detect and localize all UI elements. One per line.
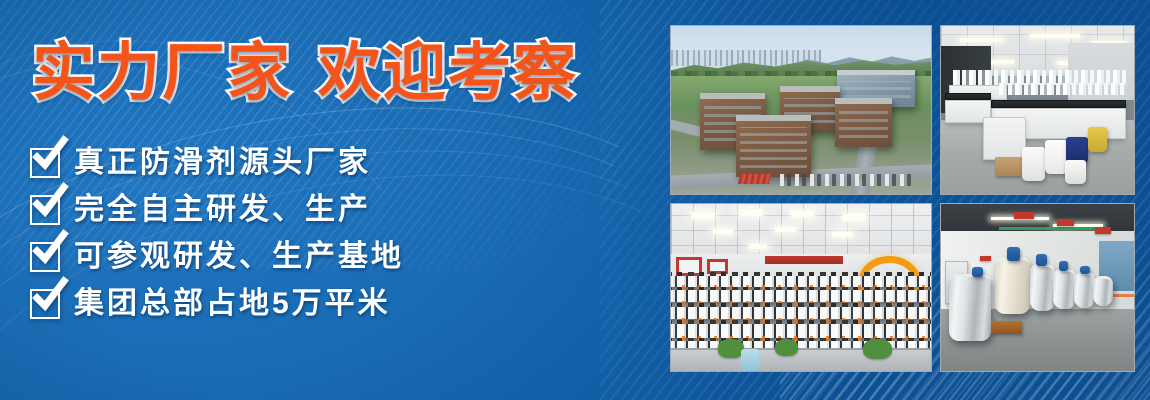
laboratory-photo — [940, 25, 1135, 195]
headline: 实力厂家欢迎考察 — [32, 42, 578, 105]
list-item-label: 集团总部占地5万平米 — [74, 289, 391, 319]
headline-part-1: 实力厂家 — [32, 38, 292, 108]
list-item-label: 完全自主研发、生产 — [74, 195, 371, 225]
checkbox-checked-icon — [30, 289, 60, 319]
text-panel: 实力厂家欢迎考察 真正防滑剂源头厂家 完全自主研发、生产 — [0, 0, 650, 400]
feature-list: 真正防滑剂源头厂家 完全自主研发、生产 可参观研发、生产基地 — [30, 146, 404, 321]
production-line-photo — [940, 203, 1135, 372]
list-item: 可参观研发、生产基地 — [30, 240, 404, 274]
checkbox-checked-icon — [30, 195, 60, 225]
aerial-campus-photo — [670, 25, 932, 195]
staff-assembly-photo — [670, 203, 932, 372]
photo-grid — [670, 25, 1135, 372]
promotional-banner: 实力厂家欢迎考察 真正防滑剂源头厂家 完全自主研发、生产 — [0, 0, 1150, 400]
headline-part-2: 欢迎考察 — [318, 38, 578, 108]
checkbox-checked-icon — [30, 242, 60, 272]
list-item-label: 可参观研发、生产基地 — [74, 242, 404, 272]
list-item: 完全自主研发、生产 — [30, 193, 404, 227]
list-item-label: 真正防滑剂源头厂家 — [74, 148, 371, 178]
list-item: 集团总部占地5万平米 — [30, 287, 404, 321]
checkbox-checked-icon — [30, 148, 60, 178]
list-item: 真正防滑剂源头厂家 — [30, 146, 404, 180]
